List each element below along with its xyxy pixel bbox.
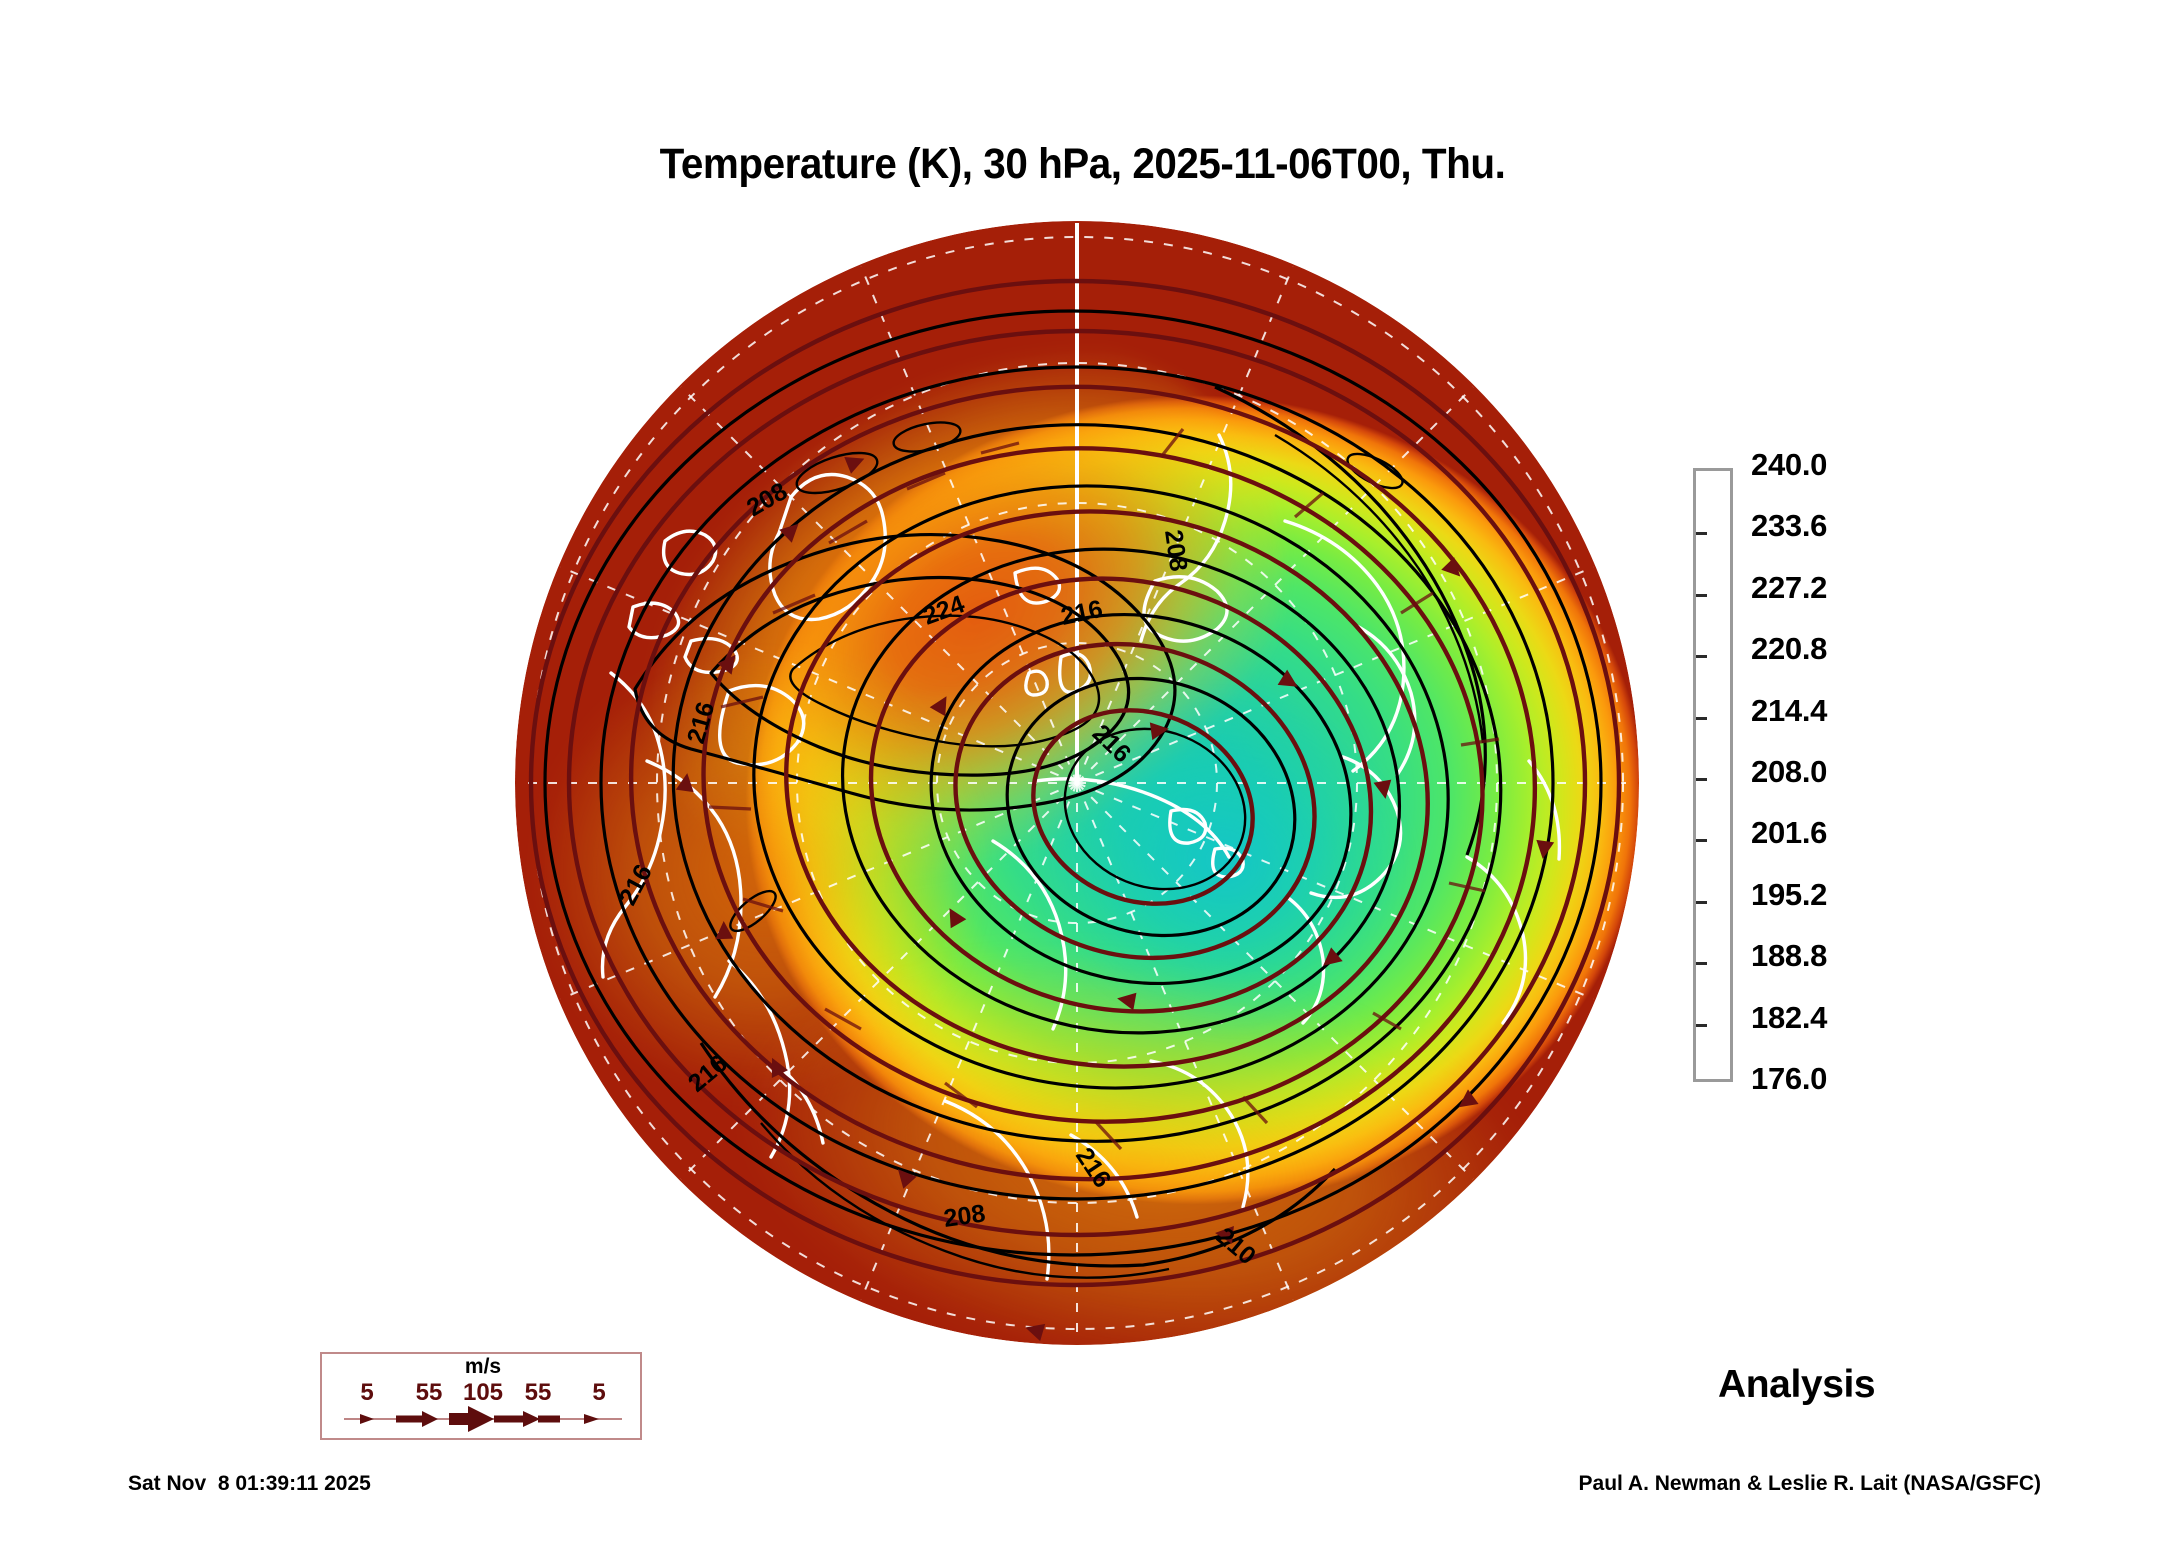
colorbar-label-227-2: 227.2 — [1751, 570, 1827, 606]
author-credit: Paul A. Newman & Leslie R. Lait (NASA/GS… — [1579, 1472, 2041, 1496]
colorbar: 240.0233.6227.2220.8214.4208.0201.6195.2… — [1693, 468, 1733, 1082]
map-overlays: 216 216 216 224 216 208 208 208 216 216 … — [515, 221, 1639, 1345]
colorbar-label-208-0: 208.0 — [1751, 754, 1827, 790]
colorbar-tick-labels: 240.0233.6227.2220.8214.4208.0201.6195.2… — [1751, 446, 1951, 1106]
colorbar-label-233-6: 233.6 — [1751, 508, 1827, 544]
colorbar-label-182-4: 182.4 — [1751, 1000, 1827, 1036]
svg-text:224: 224 — [919, 590, 968, 631]
wind-speed-legend: m/s 5 55 105 55 5 — [320, 1352, 642, 1440]
svg-text:216: 216 — [1058, 595, 1105, 631]
svg-text:216: 216 — [682, 699, 720, 747]
colorbar-tick — [1696, 532, 1707, 535]
colorbar-tick — [1696, 901, 1707, 904]
colorbar-label-214-4: 214.4 — [1751, 693, 1827, 729]
svg-text:208: 208 — [1159, 528, 1193, 573]
analysis-label: Analysis — [1718, 1363, 1875, 1407]
colorbar-label-201-6: 201.6 — [1751, 815, 1827, 851]
polar-map: 216 216 216 224 216 208 208 208 216 216 … — [515, 221, 1639, 1345]
colorbar-bar — [1693, 468, 1733, 1082]
colorbar-tick — [1696, 839, 1707, 842]
render-timestamp: Sat Nov 8 01:39:11 2025 — [128, 1472, 371, 1496]
colorbar-tick — [1696, 1024, 1707, 1027]
wind-arrow-scale — [322, 1402, 644, 1436]
colorbar-tick — [1696, 594, 1707, 597]
colorbar-tick — [1696, 962, 1707, 965]
colorbar-label-176-0: 176.0 — [1751, 1061, 1827, 1097]
colorbar-label-195-2: 195.2 — [1751, 877, 1827, 913]
svg-text:216: 216 — [1087, 719, 1136, 768]
wind-unit-label: m/s — [322, 1355, 644, 1379]
colorbar-label-220-8: 220.8 — [1751, 631, 1827, 667]
svg-text:208: 208 — [942, 1199, 987, 1233]
colorbar-gradient — [1696, 471, 1730, 1079]
colorbar-tick — [1696, 655, 1707, 658]
page-title: Temperature (K), 30 hPa, 2025-11-06T00, … — [65, 140, 2100, 189]
colorbar-label-240-0: 240.0 — [1751, 447, 1827, 483]
map-disc: 216 216 216 224 216 208 208 208 216 216 … — [515, 221, 1639, 1345]
svg-text:216: 216 — [683, 1049, 733, 1097]
colorbar-tick — [1696, 778, 1707, 781]
colorbar-label-188-8: 188.8 — [1751, 938, 1827, 974]
colorbar-tick — [1696, 717, 1707, 720]
